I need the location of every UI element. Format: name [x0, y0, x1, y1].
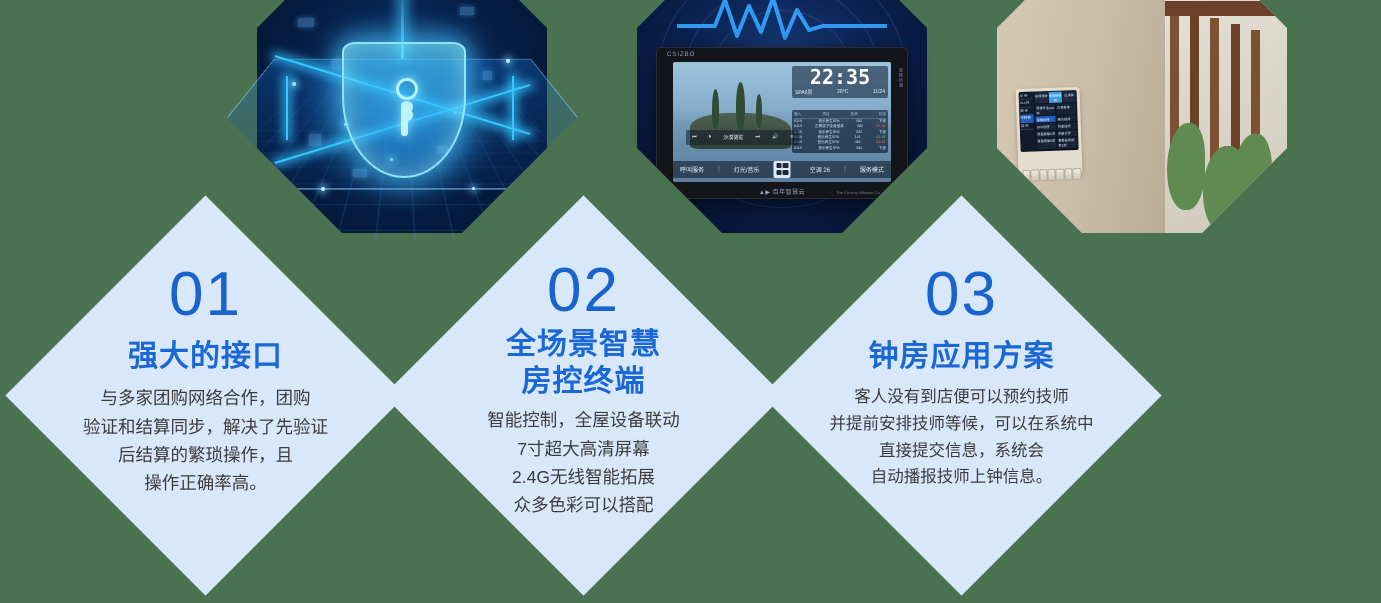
card-content-2: 02 全场景智慧 房控终端 智能控制，全屋设备联动 7寸超大高清屏幕 2.4G无…	[442, 254, 725, 537]
room-wall: 点 钟 ALL钟 圆 钟 中转钟 选 钟 技师排钟 未排钟技师 已排钟	[997, 0, 1165, 233]
panel-row-0[interactable]: 保健专业spa钟	[1035, 104, 1055, 116]
clock-location: SPA6层	[795, 89, 812, 96]
tab-2[interactable]: 已排钟	[1063, 91, 1076, 102]
security-shield-circuit-image	[257, 0, 547, 233]
player-title: 沙漠骆驼	[723, 134, 743, 141]
panel-row-1[interactable]: 正骨推拿	[1056, 103, 1076, 115]
th-input: 输入	[794, 112, 801, 117]
tab-1[interactable]: 未排钟技师	[1049, 92, 1062, 103]
wood-beam-top	[1162, 1, 1284, 16]
card-description-2: 智能控制，全屋设备联动 7寸超大高清屏幕 2.4G无线智能拓展 众多色彩可以搭配	[487, 406, 680, 519]
panel-row-7[interactable]: 全屋计师	[1057, 130, 1077, 137]
card-title-1: 强大的接口	[128, 338, 283, 375]
panel-hardware-buttons[interactable]	[1022, 169, 1081, 181]
plant-3	[1233, 134, 1271, 227]
tablet-side-label: 智能终端	[898, 68, 904, 88]
player-play-icon[interactable]: ⏵	[709, 134, 712, 140]
panel-row-9[interactable]: 董事技师推荐2项	[1057, 137, 1077, 149]
panel-row-2[interactable]: 保健经理	[1036, 116, 1056, 123]
bar-divider: |	[718, 166, 720, 172]
smart-panel-tablet[interactable]: CSIZBO 智能终端 ▲▶ 百年智慧云 The Century Wisdom …	[656, 47, 908, 199]
th-status: 状态	[879, 112, 886, 117]
tablet-logo-sub: The Century Wisdom Co. Ltd. Digital	[836, 191, 901, 196]
card-number-1: 01	[169, 264, 242, 326]
card-content-1: 01 强大的接口 与多家团购网络合作，团购 验证和结算同步，解决了先验证 后结算…	[64, 254, 347, 537]
card-title-3: 钟房应用方案	[869, 338, 1055, 375]
cell-project: 音乐养生SPA	[818, 146, 839, 151]
sidebar-item-4[interactable]: 选 钟	[1021, 122, 1034, 130]
glow-line-c	[286, 76, 288, 140]
card-number-2: 02	[547, 260, 620, 322]
wallpaper-tree-2	[736, 82, 745, 130]
bar-divider: |	[844, 166, 846, 172]
panel-row-3[interactable]: 精价技师	[1057, 115, 1077, 122]
wall-control-panel-room-image: 点 钟 ALL钟 圆 钟 中转钟 选 钟 技师排钟 未排钟技师 已排钟	[997, 0, 1287, 233]
table-row: 8119 音乐养生SPA 082 下钟	[794, 146, 886, 151]
tablet-brand: CSIZBO	[667, 52, 695, 58]
cell-tech: 082	[856, 146, 862, 151]
player-list-icon[interactable]: ≡	[790, 134, 793, 140]
clock-temperature: 26°C	[837, 89, 848, 96]
bar-item-light-music[interactable]: 灯光/音乐	[734, 165, 760, 174]
bar-item-call-service[interactable]: 呼叫服务	[680, 165, 704, 174]
panel-screen[interactable]: 点 钟 ALL钟 圆 钟 中转钟 选 钟 技师排钟 未排钟技师 已排钟	[1019, 90, 1079, 152]
panel-main: 技师排钟 未排钟技师 已排钟 保健专业spa钟 正骨推拿 保健经理 精价技师 S…	[1034, 90, 1079, 151]
card-panel-1[interactable]: 01 强大的接口 与多家团购网络合作，团购 验证和结算同步，解决了先验证 后结算…	[5, 195, 405, 595]
tablet-logo: ▲▶ 百年智慧云	[759, 187, 805, 196]
wood-rail-4	[1231, 24, 1240, 163]
player-prev-icon[interactable]: ⏮	[692, 134, 697, 140]
smart-room-tablet-image: CSIZBO 智能终端 ▲▶ 百年智慧云 The Century Wisdom …	[637, 0, 927, 233]
panel-row-8[interactable]: 音画按摩3项	[1036, 138, 1056, 150]
room-background	[1159, 0, 1287, 233]
card-panel-3[interactable]: 03 钟房应用方案 客人没有到店便可以预约技师 并提前安排技师等候，可以在系统中…	[761, 195, 1161, 595]
plant-1	[1167, 123, 1205, 210]
feature-diamond-banner: 01 强大的接口 与多家团购网络合作，团购 验证和结算同步，解决了先验证 后结算…	[0, 0, 1381, 603]
bar-item-aircon[interactable]: 空调 26	[810, 165, 830, 174]
panel-row-4[interactable]: SPA经理	[1036, 123, 1056, 130]
th-project: 项目	[822, 112, 829, 117]
card-description-3: 客人没有到店便可以预约技师 并提前安排技师等候，可以在系统中 直接提交信息，系统…	[830, 384, 1094, 491]
wood-rail-3	[1210, 18, 1219, 163]
panel-tabs[interactable]: 技师排钟 未排钟技师 已排钟	[1035, 91, 1076, 103]
bar-item-service-mode[interactable]: 服务模式	[860, 165, 884, 174]
clock-widget: 22:35 SPA6层 26°C 11/24	[792, 66, 888, 97]
card-number-3: 03	[925, 264, 998, 326]
tab-0[interactable]: 技师排钟	[1035, 92, 1048, 103]
glow-line-d	[512, 76, 514, 140]
music-player[interactable]: ⏮ ⏵ 沙漠骆驼 ⏭ 🔊 ≡	[686, 130, 799, 146]
panel-button-2[interactable]	[1031, 169, 1040, 182]
cell-input: 8119	[794, 146, 802, 151]
panel-row-5[interactable]: 特邀技师	[1057, 122, 1077, 129]
pulse-wave-icon	[677, 0, 887, 44]
card-content-3: 03 钟房应用方案 客人没有到店便可以预约技师 并提前安排技师等候，可以在系统中…	[820, 254, 1103, 537]
clock-time: 22:35	[795, 68, 885, 87]
panel-row-6[interactable]: 音画按摩2项	[1036, 130, 1056, 137]
home-grid-icon[interactable]	[774, 161, 791, 178]
tablet-screen[interactable]: 22:35 SPA6层 26°C 11/24 输入 项目 技师 状态	[673, 62, 891, 182]
panel-button-7[interactable]	[1073, 168, 1082, 181]
player-next-icon[interactable]: ⏭	[755, 134, 760, 140]
service-table[interactable]: 输入 项目 技师 状态 8119 音乐养生SPA 082 下钟 8119	[792, 110, 888, 153]
wallpaper-tree-3	[756, 94, 762, 128]
wall-control-panel[interactable]: 点 钟 ALL钟 圆 钟 中转钟 选 钟 技师排钟 未排钟技师 已排钟	[1016, 87, 1083, 176]
cell-status: 下钟	[879, 146, 886, 151]
card-panel-2[interactable]: 02 全场景智慧 房控终端 智能控制，全屋设备联动 7寸超大高清屏幕 2.4G无…	[383, 195, 783, 595]
clock-date: 11/24	[873, 89, 885, 96]
player-volume-icon[interactable]: 🔊	[772, 134, 778, 140]
clock-meta: SPA6层 26°C 11/24	[795, 89, 885, 96]
card-description-1: 与多家团购网络合作，团购 验证和结算同步，解决了先验证 后结算的繁琐操作，且 操…	[83, 384, 328, 497]
card-title-2: 全场景智慧 房控终端	[506, 326, 661, 400]
wallpaper-tree-1	[712, 89, 719, 129]
th-tech: 技师	[851, 112, 858, 117]
panel-rows[interactable]: 保健专业spa钟 正骨推拿 保健经理 精价技师 SPA经理 特邀技师 音画按摩2…	[1035, 103, 1077, 149]
